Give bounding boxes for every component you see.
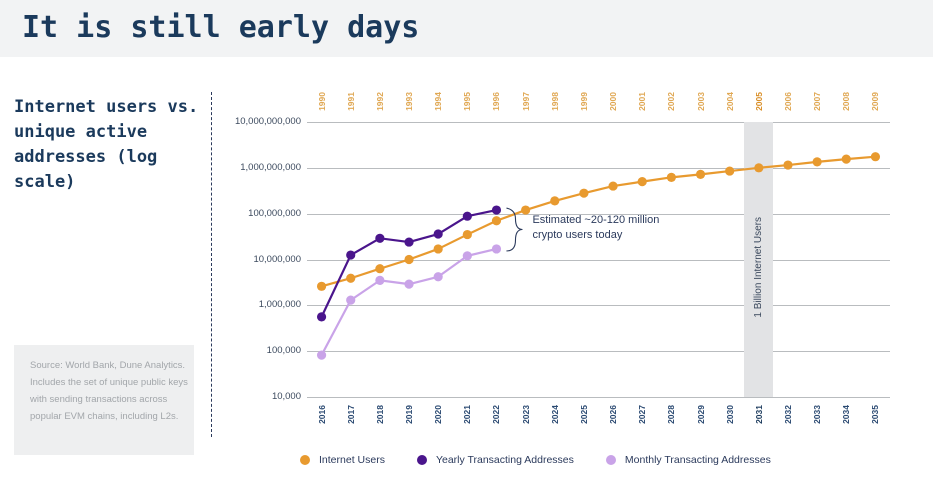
legend-item-internet-users[interactable]: Internet Users — [300, 454, 385, 466]
vertical-divider — [211, 92, 212, 437]
legend-label: Monthly Transacting Addresses — [625, 454, 771, 466]
legend-item-monthly-transacting-addresses[interactable]: Monthly Transacting Addresses — [606, 454, 771, 466]
legend-dot-icon — [606, 455, 616, 465]
legend-dot-icon — [300, 455, 310, 465]
legend-label: Internet Users — [319, 454, 385, 466]
page-title: It is still early days — [22, 10, 419, 45]
chart-subtitle: Internet users vs. unique active address… — [14, 95, 204, 195]
legend-label: Yearly Transacting Addresses — [436, 454, 574, 466]
legend-dot-icon — [417, 455, 427, 465]
legend-item-yearly-transacting-addresses[interactable]: Yearly Transacting Addresses — [417, 454, 574, 466]
brace-icon — [506, 208, 522, 251]
annotation-brace — [232, 92, 902, 412]
chart-legend: Internet UsersYearly Transacting Address… — [300, 454, 771, 466]
chart-container: 10,000,000,0001,000,000,000100,000,00010… — [232, 92, 902, 412]
source-note-text: Source: World Bank, Dune Analytics. Incl… — [30, 357, 190, 425]
